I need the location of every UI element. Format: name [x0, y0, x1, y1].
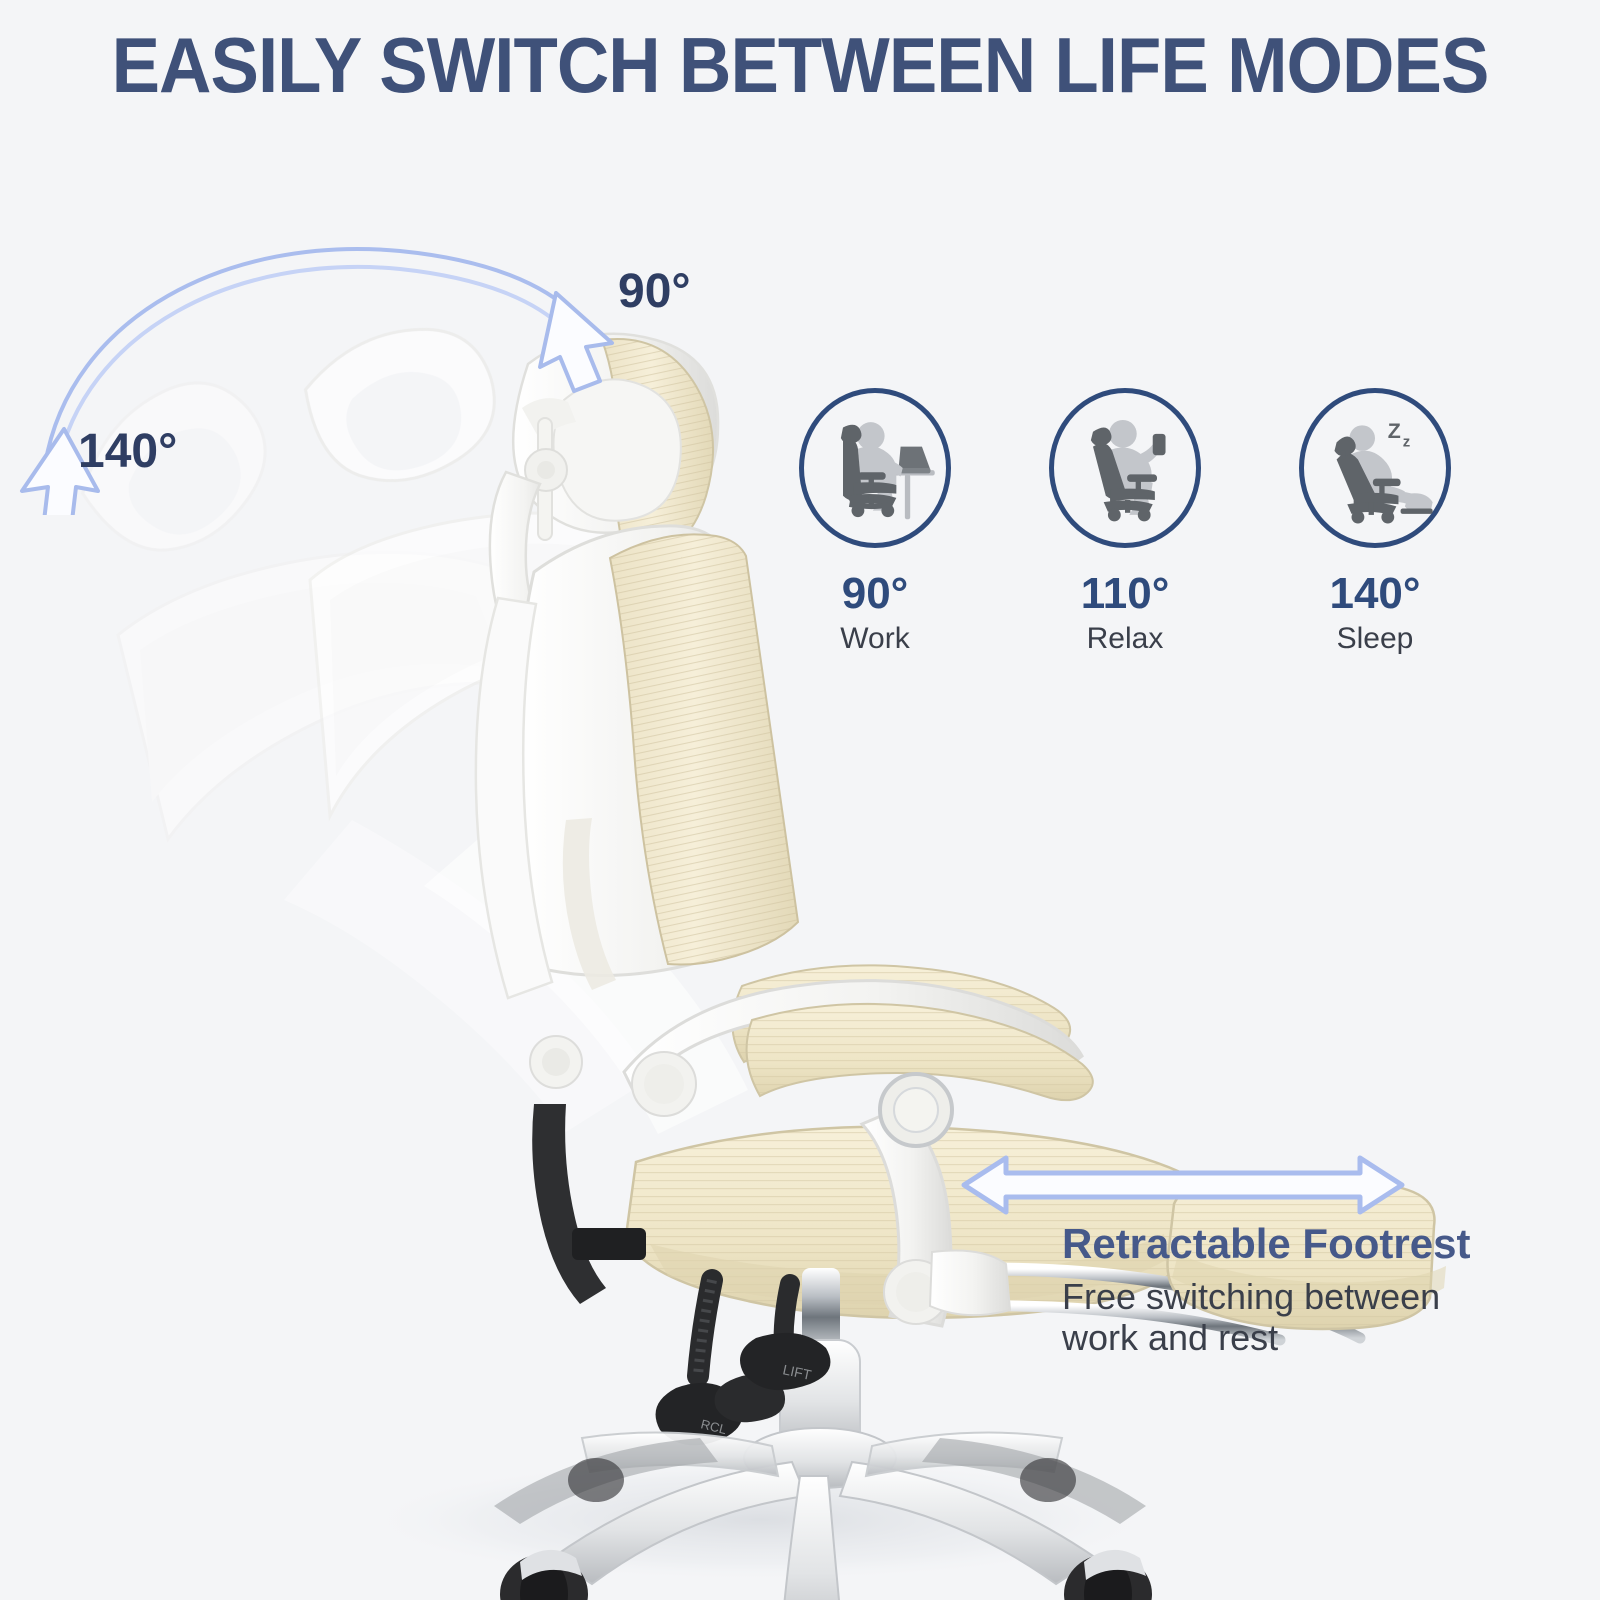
footrest-title: Retractable Footrest — [1062, 1222, 1470, 1266]
mode-degrees-sleep: 140° — [1329, 572, 1420, 616]
mode-item-work[interactable]: 90° Work — [775, 388, 975, 654]
mode-degrees-relax: 110° — [1081, 572, 1170, 616]
infographic-canvas: EASILY SWITCH BETWEEN LIFE MODES — [0, 0, 1600, 1600]
mode-list: 90° Work — [775, 388, 1475, 668]
mode-item-relax[interactable]: 110° Relax — [1025, 388, 1225, 654]
sleep-z-small: z — [1403, 434, 1410, 451]
page-title: EASILY SWITCH BETWEEN LIFE MODES — [56, 26, 1544, 104]
mode-circle-work — [799, 388, 951, 548]
mode-degrees-work: 90° — [842, 572, 909, 616]
double-headed-arrow-icon — [948, 1150, 1418, 1220]
angle-label-140: 140° — [78, 428, 177, 476]
footrest-subtitle: Free switching between work and rest — [1062, 1276, 1482, 1359]
sleep-z-large: Z — [1388, 419, 1401, 443]
person-reclined-with-phone-icon — [1061, 404, 1189, 532]
person-sleeping-with-footrest-icon: Z z — [1311, 404, 1439, 532]
mode-label-work: Work — [840, 624, 909, 654]
mode-label-relax: Relax — [1087, 624, 1164, 654]
mode-label-sleep: Sleep — [1337, 624, 1414, 654]
mode-item-sleep[interactable]: Z z — [1275, 388, 1475, 654]
mode-circle-sleep: Z z — [1299, 388, 1451, 548]
angle-label-90: 90° — [618, 268, 691, 316]
person-working-at-desk-icon — [811, 404, 939, 532]
mode-circle-relax — [1049, 388, 1201, 548]
